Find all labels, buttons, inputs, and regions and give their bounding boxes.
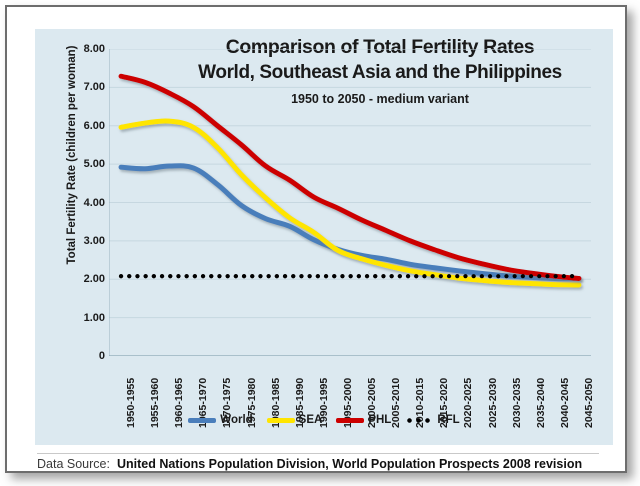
legend-label: SEA [299, 414, 323, 426]
plot-svg [109, 49, 591, 356]
legend-item-sea[interactable]: SEA [267, 414, 323, 426]
rfl-dot [357, 274, 361, 278]
rfl-dot [373, 274, 377, 278]
rfl-dot [283, 274, 287, 278]
rfl-dot [406, 274, 410, 278]
footer: Data Source: United Nations Population D… [37, 457, 617, 471]
rfl-dot [488, 274, 492, 278]
legend-swatch-phl-icon [336, 418, 364, 423]
y-tick-label: 2.00 [63, 273, 105, 285]
rfl-dot [152, 274, 156, 278]
rfl-dot [463, 274, 467, 278]
legend-item-world[interactable]: World [188, 414, 252, 426]
rfl-dot [291, 274, 295, 278]
y-tick-label: 1.00 [63, 312, 105, 324]
rfl-dot [398, 274, 402, 278]
series-world [121, 166, 579, 279]
rfl-dot [521, 274, 525, 278]
series-phl [121, 76, 579, 278]
rfl-dot [299, 274, 303, 278]
rfl-dot [504, 274, 508, 278]
y-tick-label: 6.00 [63, 120, 105, 132]
rfl-dot [160, 274, 164, 278]
legend-label: World [220, 414, 252, 426]
rfl-dot [529, 274, 533, 278]
y-tick-label: 4.00 [63, 197, 105, 209]
legend-label: RFL [437, 414, 459, 426]
rfl-dot [496, 274, 500, 278]
rfl-dot [439, 274, 443, 278]
legend-label: PHL [368, 414, 391, 426]
rfl-dot [242, 274, 246, 278]
rfl-dot [250, 274, 254, 278]
rfl-dot [332, 274, 336, 278]
rfl-dot [472, 274, 476, 278]
y-axis-tick-labels: 8.007.006.005.004.003.002.001.000 [63, 49, 105, 356]
rfl-dot [340, 274, 344, 278]
rfl-dot [144, 274, 148, 278]
rfl-dot [185, 274, 189, 278]
rfl-dot [545, 274, 549, 278]
rfl-dot [365, 274, 369, 278]
rfl-dot [422, 274, 426, 278]
legend-item-phl[interactable]: PHL [336, 414, 391, 426]
rfl-dot [316, 274, 320, 278]
rfl-dot [349, 274, 353, 278]
rfl-dot [234, 274, 238, 278]
rfl-dot [390, 274, 394, 278]
y-tick-label: 0 [63, 350, 105, 362]
footer-source-label: Data Source: [37, 457, 110, 471]
rfl-dot [308, 274, 312, 278]
y-tick-label: 7.00 [63, 81, 105, 93]
rfl-dot [455, 274, 459, 278]
rfl-dot [258, 274, 262, 278]
rfl-dot [127, 274, 131, 278]
rfl-dot [570, 274, 574, 278]
rfl-dot [414, 274, 418, 278]
rfl-dot [168, 274, 172, 278]
legend-swatch-world-icon [188, 418, 216, 423]
rfl-dot [562, 274, 566, 278]
series-rfl-overlay [119, 274, 574, 278]
rfl-dot [135, 274, 139, 278]
rfl-dot [226, 274, 230, 278]
chart-legend: WorldSEAPHLRFL [35, 414, 613, 426]
rfl-dot [217, 274, 221, 278]
rfl-dot [431, 274, 435, 278]
rfl-dot [513, 274, 517, 278]
rfl-dot [447, 274, 451, 278]
legend-swatch-sea-icon [267, 418, 295, 423]
y-tick-label: 5.00 [63, 158, 105, 170]
rfl-dot [381, 274, 385, 278]
chart-canvas: Comparison of Total Fertility Rates Worl… [35, 29, 613, 445]
rfl-dot [201, 274, 205, 278]
rfl-dot [119, 274, 123, 278]
rfl-dot [554, 274, 558, 278]
rfl-dot [176, 274, 180, 278]
plot-area [109, 49, 591, 356]
chart-page: Comparison of Total Fertility Rates Worl… [0, 0, 640, 486]
chart-frame: Comparison of Total Fertility Rates Worl… [5, 5, 627, 473]
rfl-dot [537, 274, 541, 278]
footer-source-text: United Nations Population Division, Worl… [117, 457, 582, 471]
rfl-dot [267, 274, 271, 278]
rfl-dot [324, 274, 328, 278]
legend-item-rfl[interactable]: RFL [405, 414, 459, 426]
rfl-dot [275, 274, 279, 278]
y-tick-label: 8.00 [63, 43, 105, 55]
rfl-dot [480, 274, 484, 278]
rfl-dot [193, 274, 197, 278]
rfl-dot [209, 274, 213, 278]
legend-swatch-rfl-icon [405, 418, 433, 423]
y-tick-label: 3.00 [63, 235, 105, 247]
footer-divider [37, 453, 599, 454]
